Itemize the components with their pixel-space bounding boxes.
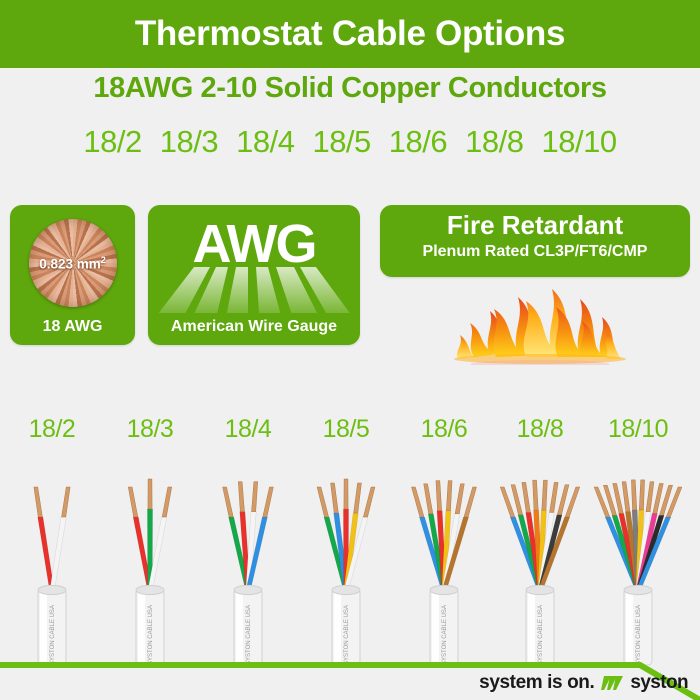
cable-illustration: SYSTON CABLE USA: [490, 449, 590, 665]
cable-gallery: 18/2 SYSTON CABLE USA 18/3 SYSTON CABLE …: [0, 415, 700, 665]
cable-illustration: SYSTON CABLE USA: [394, 449, 494, 665]
page-title: Thermostat Cable Options: [135, 14, 565, 54]
cable-item-18-3[interactable]: 18/3 SYSTON CABLE USA: [100, 415, 200, 665]
copper-cross-section-icon: 0.823 mm2: [29, 219, 117, 307]
conductor-area-value: 0.823 mm2: [39, 255, 106, 272]
gauge-item: 18/5: [312, 124, 370, 160]
fire-retardant-subtitle: Plenum Rated CL3P/FT6/CMP: [380, 243, 690, 261]
badge-awg: AWG American Wire Gauge: [148, 205, 360, 345]
gauge-item: 18/10: [541, 124, 616, 160]
awg-caption: American Wire Gauge: [148, 318, 360, 336]
cable-item-18-8[interactable]: 18/8 SYSTON CABLE USA: [490, 415, 590, 665]
gauge-item: 18/4: [236, 124, 294, 160]
cable-label: 18/5: [296, 415, 396, 444]
cable-illustration: SYSTON CABLE USA: [588, 449, 688, 665]
awg-acronym: AWG: [148, 217, 360, 271]
cable-illustration: SYSTON CABLE USA: [100, 449, 200, 665]
header-bar: Thermostat Cable Options: [0, 0, 700, 68]
cable-label: 18/4: [198, 415, 298, 444]
cable-illustration: SYSTON CABLE USA: [296, 449, 396, 665]
awg-size-caption: 18 AWG: [10, 318, 135, 336]
gauge-list: 18/2 18/3 18/4 18/5 18/6 18/8 18/10: [0, 124, 700, 160]
cable-label: 18/8: [490, 415, 590, 444]
cable-illustration: SYSTON CABLE USA: [2, 449, 102, 665]
gauge-item: 18/6: [389, 124, 447, 160]
cable-label: 18/3: [100, 415, 200, 444]
cable-illustration: SYSTON CABLE USA: [198, 449, 298, 665]
tagline: system is on.: [479, 672, 594, 694]
footer-branding: system is on. syston: [479, 672, 688, 694]
gauge-item: 18/8: [465, 124, 523, 160]
cable-item-18-10[interactable]: 18/10 SYSTON CABLE USA: [588, 415, 688, 665]
subtitle: 18AWG 2-10 Solid Copper Conductors: [0, 72, 700, 105]
cable-label: 18/10: [588, 415, 688, 444]
gauge-item: 18/2: [83, 124, 141, 160]
cable-label: 18/2: [2, 415, 102, 444]
gauge-item: 18/3: [160, 124, 218, 160]
cable-label: 18/6: [394, 415, 494, 444]
flame-icon: [430, 265, 650, 365]
cable-item-18-5[interactable]: 18/5 SYSTON CABLE USA: [296, 415, 396, 665]
brand-name: syston: [630, 672, 688, 694]
fire-retardant-title: Fire Retardant: [380, 210, 690, 241]
cable-item-18-6[interactable]: 18/6 SYSTON CABLE USA: [394, 415, 494, 665]
badge-awg-size: 0.823 mm2 18 AWG: [10, 205, 135, 345]
syston-logo-icon: [601, 673, 623, 693]
cable-item-18-2[interactable]: 18/2 SYSTON CABLE USA: [2, 415, 102, 665]
cable-item-18-4[interactable]: 18/4 SYSTON CABLE USA: [198, 415, 298, 665]
awg-graphic: AWG: [148, 211, 360, 313]
